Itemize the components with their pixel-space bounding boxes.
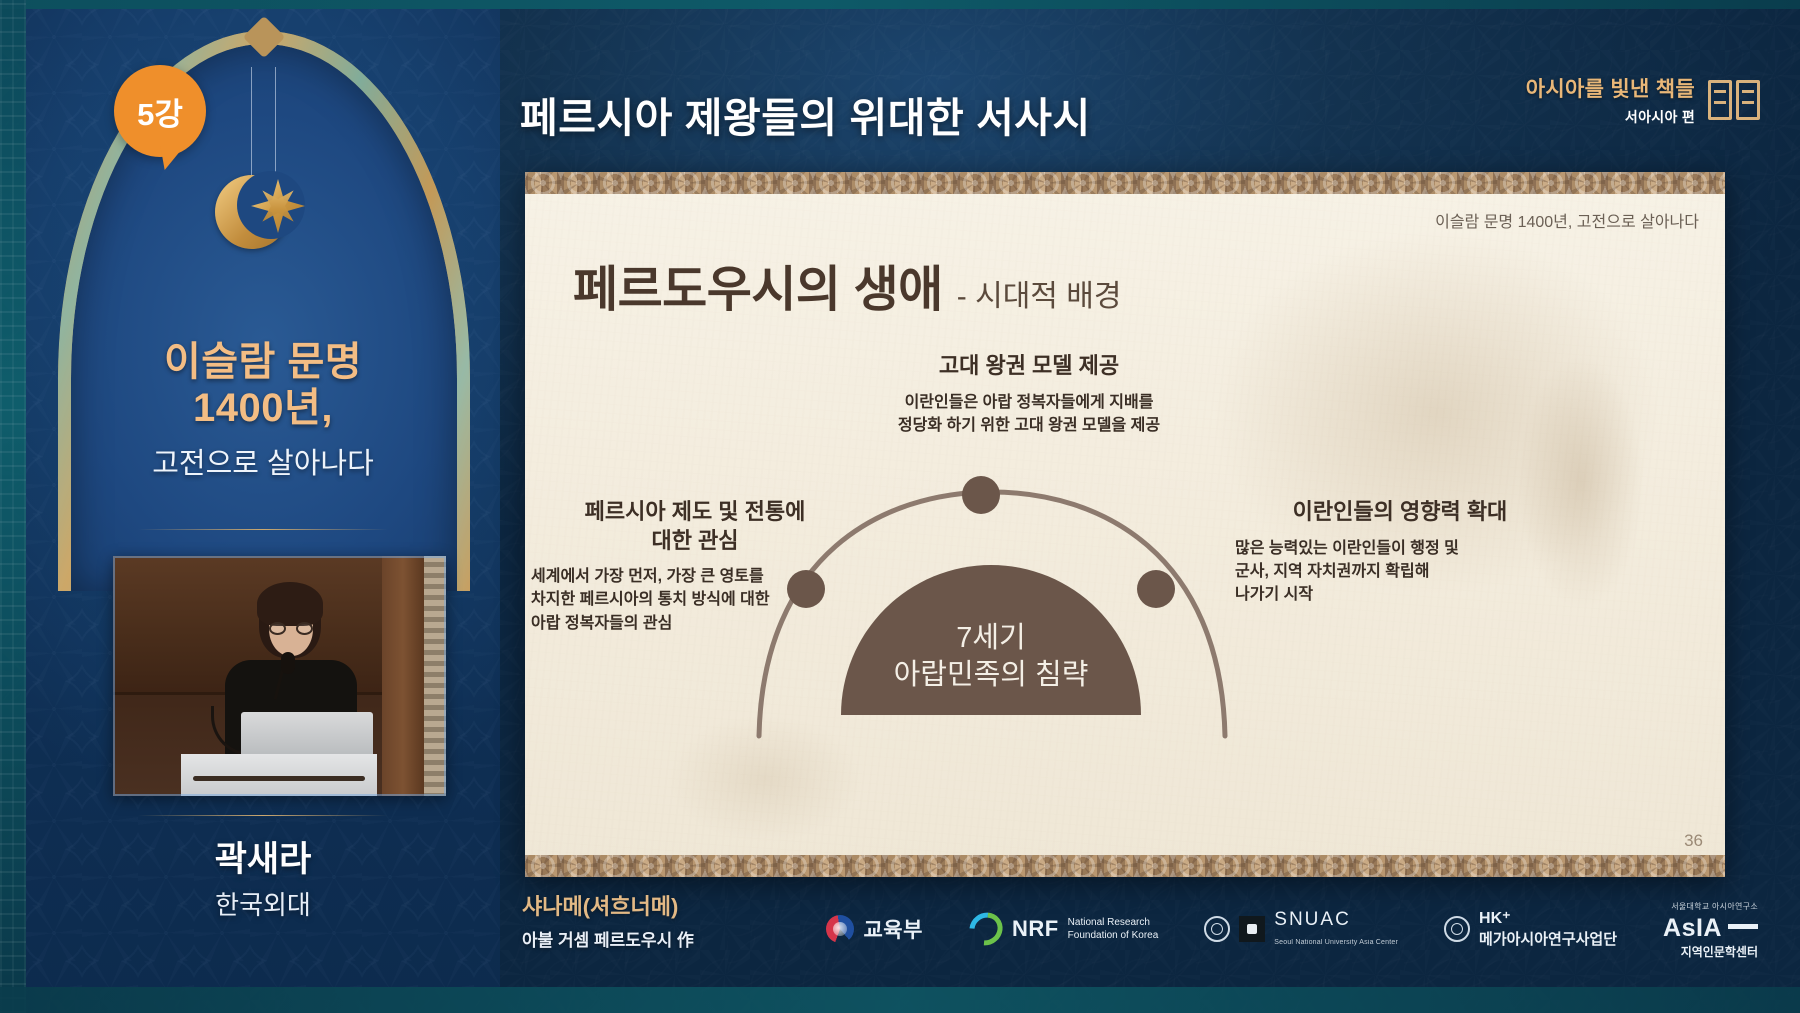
left-accent-strip — [0, 0, 26, 1013]
slide-heading-sub: - 시대적 배경 — [957, 271, 1122, 321]
brand-line2: 서아시아 편 — [1526, 107, 1695, 127]
node-body: 세계에서 가장 먼저, 가장 큰 영토를차지한 페르시아의 통치 방식에 대한아… — [525, 565, 865, 635]
logo-snuac-sub: Seoul National University Asia Center — [1274, 939, 1398, 946]
divider-bottom — [138, 815, 388, 816]
snu-seal-icon — [1204, 916, 1230, 942]
slide-heading: 페르도우시의 생애 - 시대적 배경 — [573, 250, 1121, 321]
node-title: 이란인들의 영향력 확대 — [1235, 498, 1565, 527]
footer-caption-title: 샤나메(셔흐너메) — [522, 889, 694, 921]
logo-moe-label: 교육부 — [863, 914, 922, 944]
speaker-affiliation: 한국외대 — [26, 885, 500, 922]
node-title: 고대 왕권 모델 제공 — [829, 352, 1229, 381]
logo-nrf-sub: National ResearchFoundation of Korea — [1068, 916, 1159, 942]
slide-ornament-top — [525, 172, 1725, 194]
diagram-node-dot-top — [962, 476, 1000, 514]
node-body: 많은 능력있는 이란인들이 행정 및군사, 지역 자치권까지 확립해나가기 시작 — [1235, 537, 1565, 607]
logo-hk-label: HK⁺ — [1479, 910, 1511, 927]
series-title: 이슬람 문명 1400년, 고전으로 살아나다 — [26, 339, 500, 482]
slide-heading-main: 페르도우시의 생애 — [573, 250, 943, 321]
snuac-mark-icon — [1239, 916, 1265, 942]
speaker-video-feed[interactable] — [113, 556, 446, 796]
logo-asia-label: AsIA — [1663, 914, 1722, 942]
diagram-node-top: 고대 왕권 모델 제공 이란인들은 아랍 정복자들에게 지배를정당화 하기 위한… — [829, 352, 1229, 437]
series-title-line1: 이슬람 문명 — [26, 339, 500, 385]
slide-kicker: 이슬람 문명 1400년, 고전으로 살아나다 — [1435, 208, 1699, 232]
diagram-node-left: 페르시아 제도 및 전통에대한 관심 세계에서 가장 먼저, 가장 큰 영토를차… — [525, 498, 865, 635]
nrf-swoosh-icon — [969, 913, 1003, 945]
hk-seal-icon — [1444, 916, 1470, 942]
brand-lockup: 아시아를 빛낸 책들 서아시아 편 — [1526, 73, 1760, 127]
center-line1: 7세기 — [956, 620, 1026, 657]
logo-nrf-label: NRF — [1012, 916, 1059, 942]
brand-line1: 아시아를 빛낸 책들 — [1526, 73, 1695, 103]
taegeuk-icon — [826, 915, 854, 943]
presentation-stage: 5강 이슬람 문명 1400년, 고전으로 살아나다 — [0, 0, 1800, 1013]
sponsor-logos: 교육부 NRF National ResearchFoundation of K… — [826, 896, 1758, 961]
lecture-badge-label: 5강 — [137, 89, 183, 134]
slide-canvas[interactable]: 이슬람 문명 1400년, 고전으로 살아나다 페르도우시의 생애 - 시대적 … — [525, 172, 1725, 877]
footer-caption: 샤나메(셔흐너메) 아불 거셈 페르도우시 作 — [522, 889, 694, 951]
concept-diagram: 7세기 아랍민족의 침략 고대 왕권 모델 제공 이란인들은 아랍 정복자들에게… — [525, 352, 1725, 872]
lecture-badge: 5강 — [114, 65, 206, 157]
footer-caption-author: 아불 거셈 페르도우시 作 — [522, 926, 694, 951]
top-accent-strip — [0, 0, 1800, 9]
logo-asia-top: 서울대학교 아시아연구소 — [1671, 902, 1758, 911]
logo-snuac-label: SNUAC — [1274, 909, 1351, 930]
node-body: 이란인들은 아랍 정복자들에게 지배를정당화 하기 위한 고대 왕권 모델을 제… — [829, 391, 1229, 437]
series-title-line2: 1400년, — [26, 385, 500, 431]
slide-page-number: 36 — [1684, 831, 1703, 851]
divider-top — [138, 529, 388, 530]
speaker-name: 곽새라 — [26, 831, 500, 882]
bottom-accent-strip — [0, 987, 1800, 1013]
logo-asia: 서울대학교 아시아연구소 AsIA 지역인문학센터 — [1663, 896, 1758, 961]
diagram-node-dot-right — [1137, 570, 1175, 608]
sidebar-panel: 5강 이슬람 문명 1400년, 고전으로 살아나다 — [26, 9, 500, 987]
logo-hk: HK⁺ 메가아시아연구사업단 — [1444, 908, 1617, 949]
open-book-icon — [1708, 80, 1760, 120]
logo-snuac: SNUAC Seoul National University Asia Cen… — [1204, 909, 1398, 949]
logo-nrf: NRF National ResearchFoundation of Korea — [969, 913, 1158, 945]
center-line2: 아랍민족의 침략 — [894, 657, 1089, 694]
page-title: 페르시아 제왕들의 위대한 서사시 — [520, 84, 1091, 144]
logo-moe: 교육부 — [826, 914, 922, 944]
series-title-line3: 고전으로 살아나다 — [26, 440, 500, 482]
logo-hk-sub: 메가아시아연구사업단 — [1479, 931, 1617, 948]
diagram-node-right: 이란인들의 영향력 확대 많은 능력있는 이란인들이 행정 및군사, 지역 자치… — [1235, 498, 1565, 606]
node-title: 페르시아 제도 및 전통에대한 관심 — [525, 498, 865, 555]
logo-asia-sub: 지역인문학센터 — [1681, 945, 1758, 959]
